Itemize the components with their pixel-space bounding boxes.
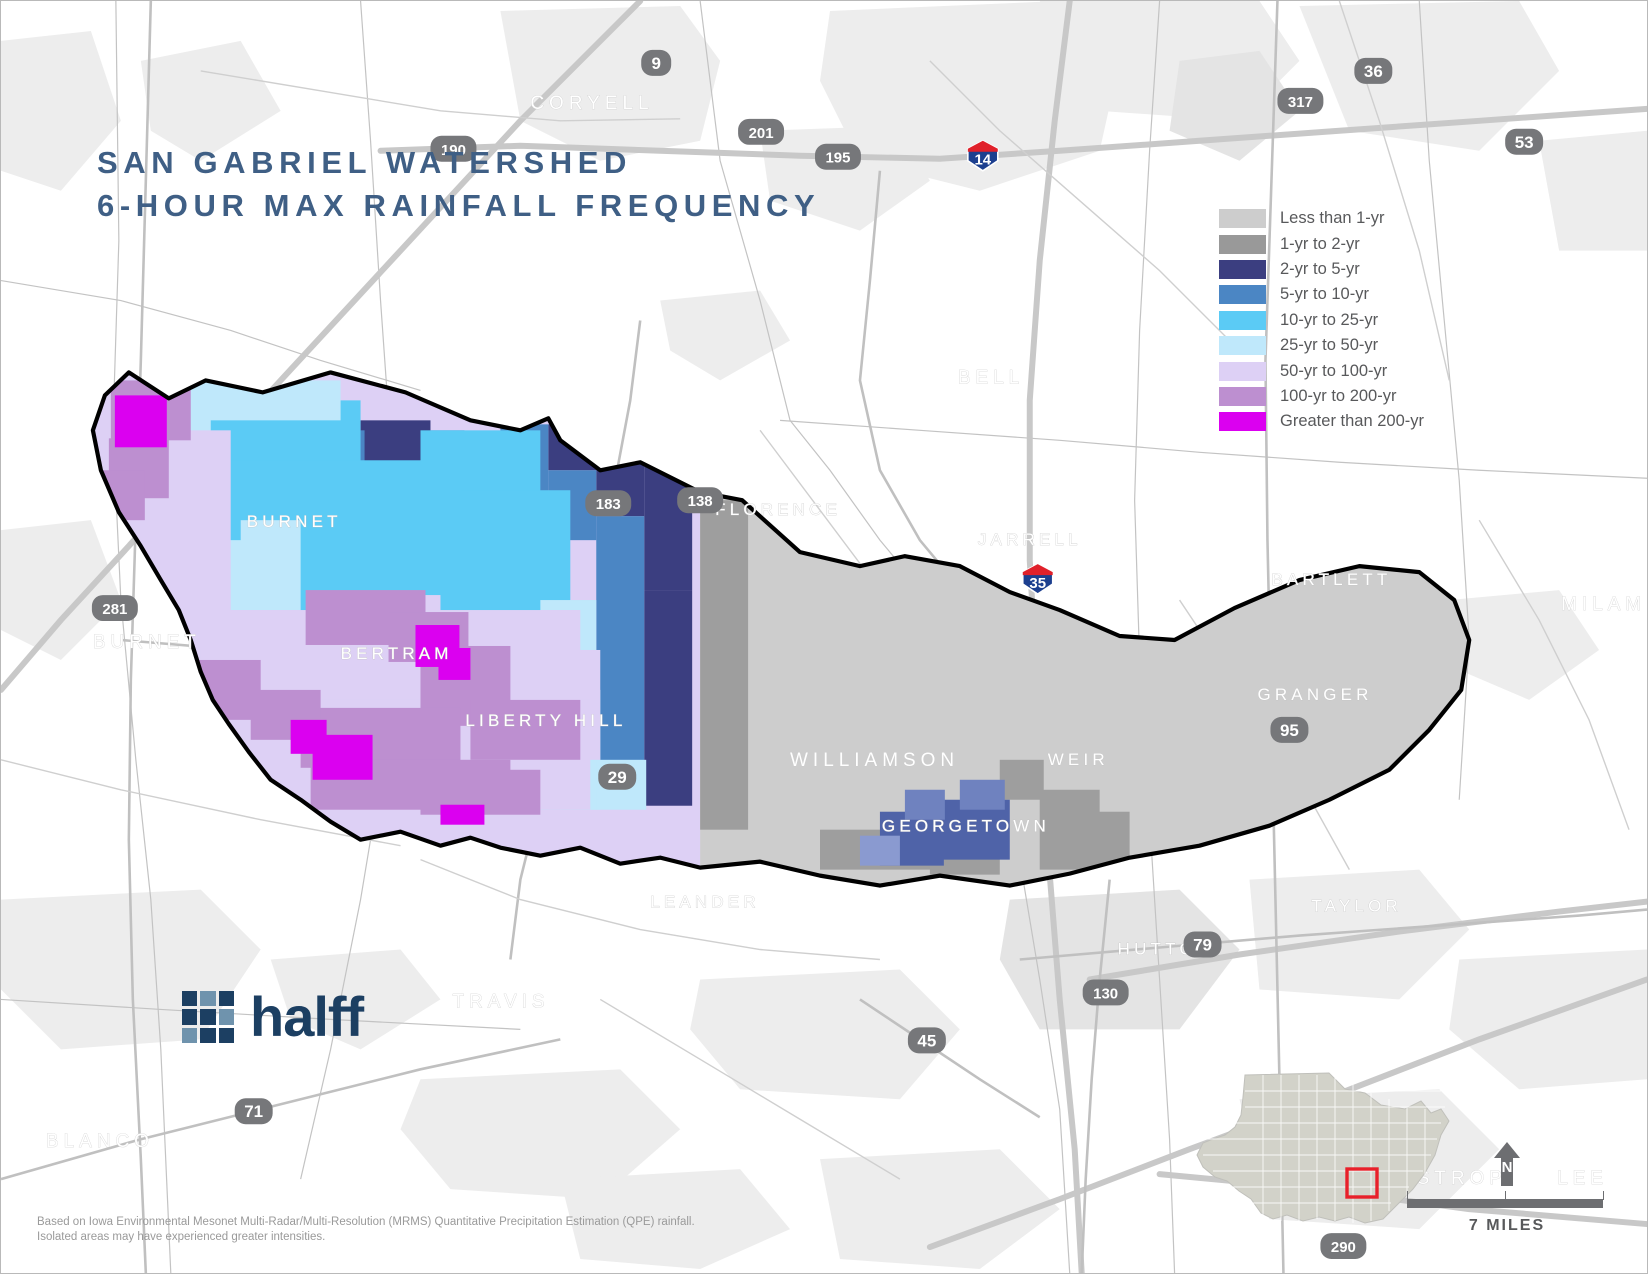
- legend-row: 5-yr to 10-yr: [1219, 282, 1424, 307]
- highway-shield: 29: [598, 764, 636, 790]
- highway-shield: 130: [1083, 979, 1129, 1005]
- north-label: N: [1494, 1160, 1520, 1175]
- highway-shield: 290: [1320, 1233, 1366, 1259]
- county-label: TRAVIS: [452, 991, 549, 1012]
- city-label: TAYLOR: [1311, 897, 1402, 916]
- legend-swatch: [1219, 209, 1266, 228]
- highway-shield: 190: [430, 136, 476, 162]
- legend-label: Greater than 200-yr: [1280, 412, 1424, 431]
- interstate-number: 14: [974, 152, 991, 169]
- halff-logo: halff: [182, 991, 363, 1043]
- shield-number: 79: [1193, 936, 1212, 955]
- shield-number: 195: [825, 150, 850, 167]
- footnote-line-1: Based on Iowa Environmental Mesonet Mult…: [37, 1215, 695, 1230]
- county-label: BLANCO: [46, 1131, 154, 1152]
- legend-swatch: [1219, 285, 1266, 304]
- county-label: WILLIAMSON: [790, 750, 959, 771]
- legend-swatch: [1219, 336, 1266, 355]
- shield-number: 53: [1515, 133, 1534, 152]
- highway-shield: 53: [1505, 129, 1543, 155]
- legend-row: Less than 1-yr: [1219, 206, 1424, 231]
- highway-shield: 36: [1354, 58, 1392, 84]
- city-label: GRANGER: [1257, 685, 1372, 704]
- legend-swatch: [1219, 260, 1266, 279]
- legend-swatch: [1219, 311, 1266, 330]
- city-label: JARRELL: [978, 530, 1082, 549]
- legend-row: 2-yr to 5-yr: [1219, 257, 1424, 282]
- shield-number: 71: [244, 1102, 263, 1121]
- city-label: FLORENCE: [715, 500, 841, 519]
- legend-row: 1-yr to 2-yr: [1219, 231, 1424, 256]
- highway-shield: 9: [641, 50, 671, 76]
- legend-label: 50-yr to 100-yr: [1280, 362, 1387, 381]
- highway-shield: 95: [1270, 717, 1308, 743]
- legend-label: 25-yr to 50-yr: [1280, 336, 1378, 355]
- highway-shield: 195: [815, 144, 861, 170]
- legend-row: 25-yr to 50-yr: [1219, 333, 1424, 358]
- legend-row: 10-yr to 25-yr: [1219, 308, 1424, 333]
- city-label: BERTRAM: [341, 644, 453, 663]
- county-label: CORYELL: [530, 93, 653, 114]
- county-label: MILAM: [1561, 594, 1646, 615]
- scale-label: 7 MILES: [1397, 1217, 1617, 1235]
- scale-block: N 7 MILES: [1397, 1142, 1617, 1235]
- legend-label: 10-yr to 25-yr: [1280, 311, 1378, 330]
- legend-swatch: [1219, 235, 1266, 254]
- shield-number: 190: [441, 142, 466, 159]
- highway-shield: 317: [1277, 88, 1323, 114]
- halff-grid-icon: [182, 991, 234, 1043]
- legend-label: 1-yr to 2-yr: [1280, 235, 1360, 254]
- legend-label: 100-yr to 200-yr: [1280, 387, 1396, 406]
- shield-number: 317: [1288, 94, 1313, 111]
- legend-label: 5-yr to 10-yr: [1280, 285, 1369, 304]
- shield-number: 36: [1364, 62, 1383, 81]
- highway-shield: 71: [235, 1098, 273, 1124]
- legend-swatch: [1219, 412, 1266, 431]
- map-figure: CORYELLBELLMILAMWILLIAMSONBURNETTRAVISBL…: [0, 0, 1648, 1274]
- interstate-number: 35: [1029, 575, 1046, 592]
- city-label: BARTLETT: [1271, 570, 1391, 589]
- legend: Less than 1-yr1-yr to 2-yr2-yr to 5-yr5-…: [1219, 206, 1424, 435]
- city-label: LEANDER: [650, 893, 760, 912]
- highway-shield: 79: [1184, 932, 1222, 958]
- highway-shield: 281: [92, 595, 138, 621]
- footnote-line-2: Isolated areas may have experienced grea…: [37, 1230, 695, 1245]
- shield-number: 9: [651, 54, 660, 73]
- halff-wordmark: halff: [250, 991, 363, 1043]
- highway-shield: 201: [738, 119, 784, 145]
- north-arrow-icon: N: [1494, 1142, 1520, 1186]
- city-label: LIBERTY HILL: [465, 711, 626, 730]
- shield-number: 281: [102, 601, 127, 618]
- highway-shield: 138: [677, 487, 723, 513]
- scale-bar: [1397, 1191, 1617, 1213]
- shield-number: 183: [596, 496, 621, 513]
- highway-shield: 45: [908, 1027, 946, 1053]
- legend-swatch: [1219, 387, 1266, 406]
- shield-number: 45: [917, 1031, 936, 1050]
- legend-row: 50-yr to 100-yr: [1219, 358, 1424, 383]
- shield-number: 130: [1093, 985, 1118, 1002]
- city-label: GEORGETOWN: [882, 817, 1050, 836]
- shield-number: 201: [749, 125, 774, 142]
- highway-shield: 183: [585, 490, 631, 516]
- source-footnote: Based on Iowa Environmental Mesonet Mult…: [37, 1215, 695, 1245]
- city-label: WEIR: [1048, 750, 1109, 769]
- shield-number: 95: [1280, 721, 1299, 740]
- legend-label: Less than 1-yr: [1280, 209, 1385, 228]
- shield-number: 290: [1331, 1239, 1356, 1256]
- legend-label: 2-yr to 5-yr: [1280, 260, 1360, 279]
- county-label: BELL: [958, 367, 1024, 388]
- shield-number: 138: [688, 493, 713, 510]
- city-label: BURNET: [247, 512, 342, 531]
- legend-row: Greater than 200-yr: [1219, 409, 1424, 434]
- legend-swatch: [1219, 362, 1266, 381]
- county-label: BURNET: [93, 632, 201, 653]
- legend-row: 100-yr to 200-yr: [1219, 384, 1424, 409]
- shield-number: 29: [608, 768, 627, 787]
